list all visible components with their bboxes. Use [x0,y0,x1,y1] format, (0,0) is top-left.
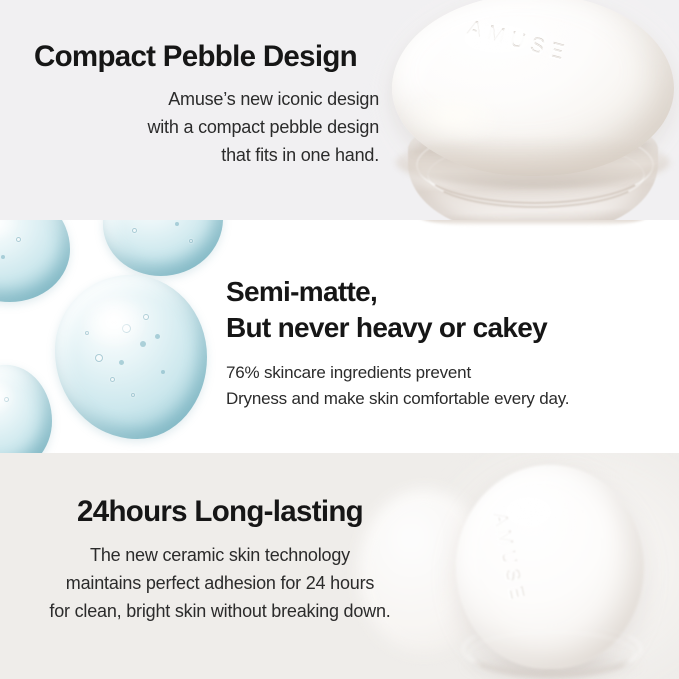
panel-semi-matte: Semi-matte, But never heavy or cakey 76%… [0,220,679,453]
product-feature-page: AMUSE Compact Pebble Design Amuse’s new … [0,0,679,679]
gel-bubble [4,397,9,402]
panel-24hours-long-lasting: AMUSE 24hours Long-lasting The new ceram… [0,453,679,679]
gel-bubble [1,255,5,259]
panel-3-heading: 24hours Long-lasting [20,495,420,529]
panel-1-heading: Compact Pebble Design [34,40,379,74]
gel-bubble [131,393,135,397]
compact-base-bleed [418,220,648,226]
gel-bubble [140,341,146,347]
panel-2-body: 76% skincare ingredients prevent Dryness… [226,360,666,413]
panel-3-body: The new ceramic skin technology maintain… [20,541,420,625]
gel-droplet [55,275,207,439]
gel-bubble [16,237,21,242]
gel-bubble [143,314,149,320]
compact-lid-rim-shadow [396,136,670,188]
gel-droplet [0,365,52,453]
compact-lid-highlight-secondary [398,90,508,144]
gel-bubble [132,228,137,233]
panel-3-copy: 24hours Long-lasting The new ceramic ski… [20,495,420,625]
gel-bubble [161,370,165,374]
gel-droplet [0,220,70,302]
panel-compact-pebble-design: AMUSE Compact Pebble Design Amuse’s new … [0,0,679,220]
product-image-pebble-compact-softfocus: AMUSE [438,455,679,679]
panel-1-body: Amuse’s new iconic design with a compact… [34,85,379,169]
pebble-rim-inner [468,631,636,677]
gel-bubble [110,377,115,382]
gel-bubble [189,239,193,243]
gel-bubble [122,324,131,333]
gel-bubble [119,360,124,365]
gel-bubble [155,334,160,339]
panel-2-copy: Semi-matte, But never heavy or cakey 76%… [226,274,666,412]
gel-bubble [175,222,179,226]
panel-1-copy: Compact Pebble Design Amuse’s new iconic… [34,40,379,169]
gel-bubble [95,354,103,362]
gel-droplet [103,220,223,276]
product-image-pebble-compact: AMUSE [392,0,679,220]
gel-bubble [85,331,89,335]
panel-2-heading: Semi-matte, But never heavy or cakey [226,274,666,346]
